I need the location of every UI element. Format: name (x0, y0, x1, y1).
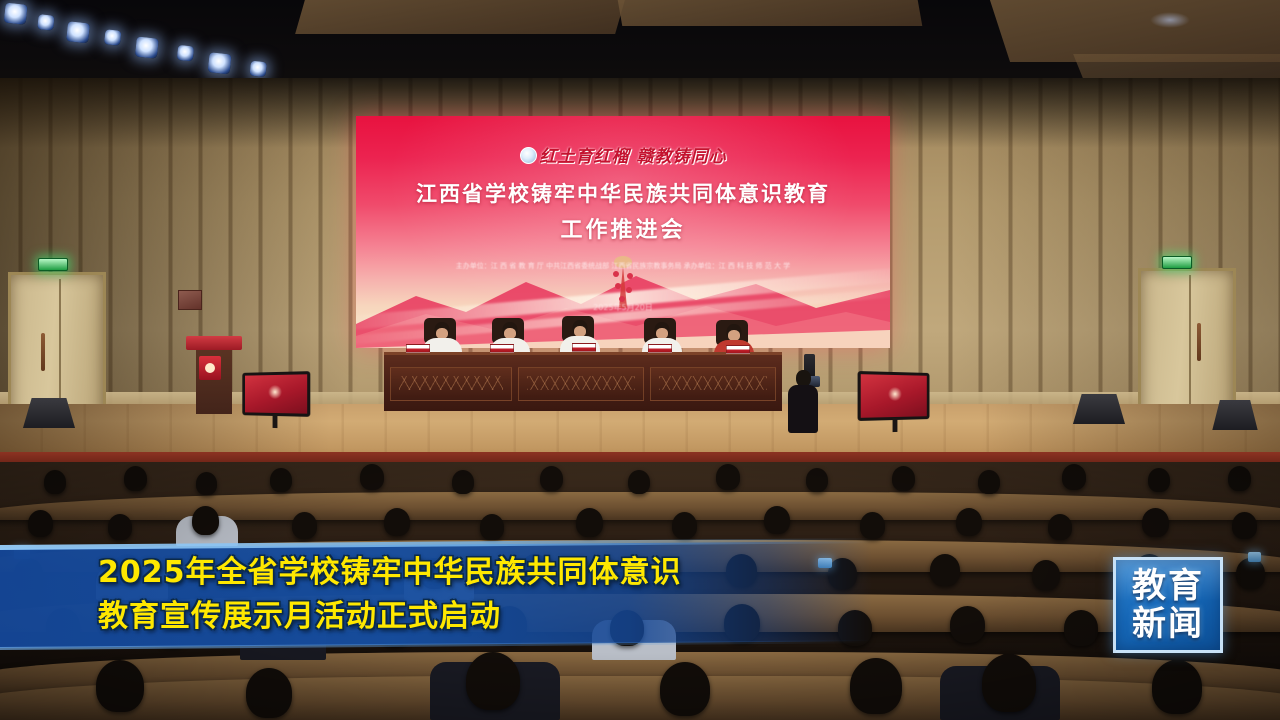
stage-monitor-right (858, 371, 930, 421)
exit-sign-icon (38, 258, 68, 271)
stage-light-icon (208, 52, 232, 74)
stage-light-icon (66, 21, 90, 43)
program-logo-text: 教育 新闻 (1116, 560, 1220, 650)
headline-line-1: 2025年全省学校铸牢中华民族共同体意识 (98, 552, 682, 594)
door-handle (1197, 323, 1201, 361)
table-panel (390, 367, 512, 401)
name-plate (726, 345, 750, 354)
stage-monitor-left (242, 371, 310, 417)
monitor-stand (273, 414, 278, 428)
screen-subtitle: 工作推进会 (356, 212, 890, 244)
screen-title: 江西省学校铸牢中华民族共同体意识教育 (356, 178, 890, 208)
table-ornament (659, 376, 767, 390)
stage-light-icon (249, 61, 266, 78)
ceiling-panel (618, 0, 923, 26)
monitor-screen (242, 371, 310, 417)
table-panel (650, 367, 776, 401)
ceiling-light-icon (1150, 12, 1190, 28)
door-handle (41, 333, 45, 371)
stage-light-icon (4, 3, 28, 25)
stage-light-icon (37, 14, 54, 31)
program-logo-line-2: 新闻 (1132, 605, 1204, 643)
cameraman (786, 370, 826, 436)
wall-mounted-box (178, 290, 202, 310)
exit-sign-icon (1162, 256, 1192, 269)
head-table (384, 352, 782, 411)
slogan-seal-icon (520, 147, 537, 164)
name-plate (490, 344, 514, 353)
stage-light-icon (104, 29, 121, 46)
program-logo-line-1: 教育 (1132, 567, 1204, 605)
name-plate (572, 343, 596, 352)
screen-slogan-text: 红土育红榴 赣教铸同心 (540, 147, 727, 167)
screen-organizers: 主办单位：江 西 省 教 育 厅 中共江西省委统战部 江西省民族宗教事务局 承办… (356, 262, 890, 271)
stage-led-screen: 红土育红榴 赣教铸同心 江西省学校铸牢中华民族共同体意识教育 工作推进会 主办单… (356, 116, 890, 348)
name-plate (406, 344, 430, 353)
podium-top (186, 336, 242, 350)
ceiling-panel (990, 0, 1280, 62)
stage-light-icon (135, 37, 159, 59)
table-panel (518, 367, 644, 401)
table-ornament (399, 376, 503, 390)
screen-date: 2025年5月20日 (356, 302, 890, 313)
program-logo-badge: 教育 新闻 (1113, 557, 1223, 653)
podium-emblem-icon (199, 356, 221, 380)
lower-third-banner: 2025年全省学校铸牢中华民族共同体意识 教育宣传展示月活动正式启动 (0, 548, 872, 648)
table-ornament (527, 376, 635, 390)
stage-light-icon (177, 45, 194, 62)
headline-line-2: 教育宣传展示月活动正式启动 (98, 596, 501, 638)
monitor-screen (858, 371, 930, 421)
name-plate (648, 344, 672, 353)
broadcast-frame: 红土育红榴 赣教铸同心 江西省学校铸牢中华民族共同体意识教育 工作推进会 主办单… (0, 0, 1280, 720)
door-leaf-split (1189, 275, 1191, 419)
speaker-podium (192, 336, 236, 414)
ceiling-panel (295, 0, 625, 34)
person-body (788, 385, 818, 433)
monitor-stand (893, 418, 898, 432)
screen-slogan: 红土育红榴 赣教铸同心 (356, 142, 890, 167)
